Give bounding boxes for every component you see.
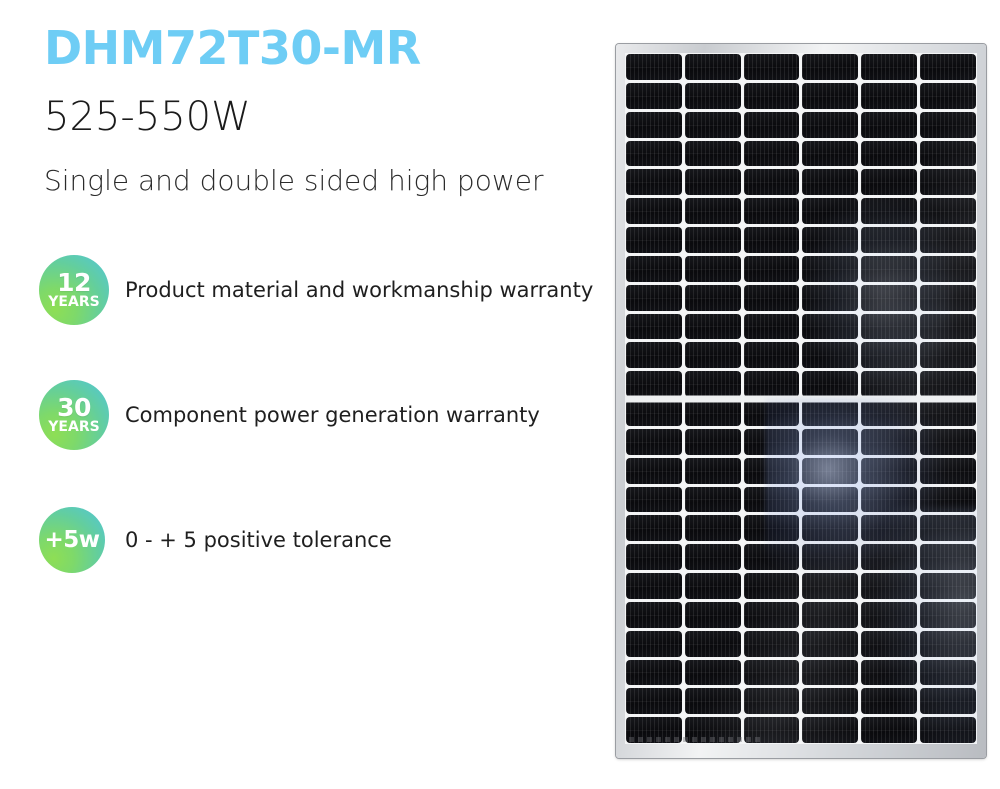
- solar-cell: [744, 487, 800, 513]
- solar-cell: [626, 112, 682, 138]
- solar-cell: [920, 141, 976, 167]
- solar-cell: [685, 314, 741, 340]
- panel-center-divider: [625, 395, 977, 402]
- solar-cell: [626, 54, 682, 80]
- solar-cell: [920, 256, 976, 282]
- solar-cell: [920, 342, 976, 368]
- solar-cell: [685, 400, 741, 426]
- solar-cell: [626, 660, 682, 686]
- positive-tolerance-badge-icon: +5w: [39, 507, 105, 573]
- solar-cell: [920, 285, 976, 311]
- solar-cell: [685, 458, 741, 484]
- badge-unit: YEARS: [48, 420, 99, 434]
- solar-cell: [685, 631, 741, 657]
- solar-cell: [920, 717, 976, 743]
- solar-panel-glass: [625, 53, 977, 744]
- solar-cell: [626, 256, 682, 282]
- badge-unit: YEARS: [48, 295, 99, 309]
- solar-cell: [802, 342, 858, 368]
- solar-cell: [744, 227, 800, 253]
- solar-cell: [685, 54, 741, 80]
- solar-cell: [861, 400, 917, 426]
- solar-cell: [626, 458, 682, 484]
- solar-cell: [744, 54, 800, 80]
- solar-cell: [920, 198, 976, 224]
- solar-cell: [861, 429, 917, 455]
- solar-cell: [744, 371, 800, 397]
- solar-cell: [802, 285, 858, 311]
- solar-cell: [626, 688, 682, 714]
- solar-cell: [744, 169, 800, 195]
- solar-cell: [920, 660, 976, 686]
- badge-number: 30: [57, 396, 91, 420]
- solar-cell: [626, 429, 682, 455]
- solar-cell: [744, 602, 800, 628]
- solar-cell: [744, 688, 800, 714]
- warranty-30-years-badge-icon: 30 YEARS: [39, 380, 109, 450]
- solar-cell: [920, 227, 976, 253]
- solar-cell: [685, 602, 741, 628]
- feature-item-positive-tolerance: +5w 0 - + 5 positive tolerance: [0, 498, 610, 582]
- feature-list: 12 YEARS Product material and workmanshi…: [0, 248, 610, 623]
- solar-cell: [744, 83, 800, 109]
- solar-cell: [626, 198, 682, 224]
- solar-cell: [744, 544, 800, 570]
- solar-cell: [861, 198, 917, 224]
- solar-cell: [744, 429, 800, 455]
- solar-cell: [920, 314, 976, 340]
- feature-item-product-warranty: 12 YEARS Product material and workmanshi…: [0, 248, 610, 332]
- solar-cell: [626, 631, 682, 657]
- solar-cell: [685, 429, 741, 455]
- solar-cell: [861, 285, 917, 311]
- solar-cell: [802, 112, 858, 138]
- product-banner: DHM72T30-MR 525-550W Single and double s…: [0, 0, 1000, 789]
- solar-cell: [626, 169, 682, 195]
- solar-cell: [626, 602, 682, 628]
- solar-cell: [744, 515, 800, 541]
- solar-cell: [744, 141, 800, 167]
- solar-cell: [920, 371, 976, 397]
- solar-cell: [626, 141, 682, 167]
- solar-cell: [861, 371, 917, 397]
- solar-cell: [802, 515, 858, 541]
- product-model-title: DHM72T30-MR: [44, 24, 421, 72]
- solar-cell: [744, 112, 800, 138]
- solar-cell: [861, 112, 917, 138]
- solar-cell: [626, 314, 682, 340]
- solar-cell: [920, 631, 976, 657]
- solar-cell: [802, 400, 858, 426]
- solar-cell: [861, 141, 917, 167]
- solar-cell: [802, 544, 858, 570]
- solar-cell: [744, 400, 800, 426]
- solar-cell: [861, 256, 917, 282]
- solar-cell: [802, 169, 858, 195]
- solar-cell: [802, 429, 858, 455]
- solar-cell: [802, 141, 858, 167]
- solar-cell: [802, 371, 858, 397]
- solar-cell: [802, 83, 858, 109]
- solar-cell: [861, 688, 917, 714]
- product-tagline: Single and double sided high power: [44, 164, 543, 198]
- solar-cell: [744, 631, 800, 657]
- solar-cell: [744, 458, 800, 484]
- solar-cell: [861, 169, 917, 195]
- solar-cell: [744, 256, 800, 282]
- solar-cell: [744, 198, 800, 224]
- solar-cell: [920, 602, 976, 628]
- solar-cell: [920, 400, 976, 426]
- solar-cell: [626, 285, 682, 311]
- solar-cell: [861, 515, 917, 541]
- solar-cell: [920, 487, 976, 513]
- solar-cell: [861, 342, 917, 368]
- solar-cell: [626, 515, 682, 541]
- solar-cell: [685, 227, 741, 253]
- solar-cell: [802, 198, 858, 224]
- solar-cell: [744, 573, 800, 599]
- solar-cell: [920, 573, 976, 599]
- product-power-range: 525-550W: [44, 96, 251, 138]
- solar-cell: [802, 717, 858, 743]
- solar-cell: [802, 573, 858, 599]
- solar-cell: [685, 256, 741, 282]
- solar-cell: [626, 400, 682, 426]
- solar-cell: [861, 602, 917, 628]
- solar-cell: [920, 429, 976, 455]
- solar-cell: [861, 717, 917, 743]
- solar-cell: [920, 54, 976, 80]
- solar-cell: [861, 227, 917, 253]
- solar-cell: [802, 227, 858, 253]
- solar-cell: [626, 487, 682, 513]
- solar-cell: [626, 342, 682, 368]
- solar-cell: [685, 688, 741, 714]
- solar-cell: [685, 169, 741, 195]
- solar-cell: [685, 112, 741, 138]
- solar-cell: [685, 544, 741, 570]
- solar-cell: [685, 285, 741, 311]
- solar-cell: [920, 112, 976, 138]
- solar-cell: [920, 83, 976, 109]
- solar-cell: [685, 371, 741, 397]
- solar-cell: [861, 660, 917, 686]
- solar-cell: [685, 342, 741, 368]
- solar-cell: [920, 458, 976, 484]
- product-info-panel: DHM72T30-MR 525-550W Single and double s…: [0, 0, 610, 789]
- solar-cell: [685, 141, 741, 167]
- feature-label: 0 - + 5 positive tolerance: [125, 528, 392, 552]
- solar-cell: [802, 487, 858, 513]
- solar-cell: [861, 314, 917, 340]
- solar-cell: [685, 198, 741, 224]
- feature-item-power-warranty: 30 YEARS Component power generation warr…: [0, 373, 610, 457]
- feature-label: Component power generation warranty: [125, 403, 540, 427]
- warranty-12-years-badge-icon: 12 YEARS: [39, 255, 109, 325]
- solar-panel-image: [616, 44, 986, 758]
- feature-label: Product material and workmanship warrant…: [125, 278, 593, 302]
- solar-cell: [744, 285, 800, 311]
- solar-cell: [920, 169, 976, 195]
- solar-cell: [861, 458, 917, 484]
- solar-cell: [685, 487, 741, 513]
- solar-cell: [626, 544, 682, 570]
- solar-cell: [802, 631, 858, 657]
- solar-cell: [920, 515, 976, 541]
- solar-cell: [744, 342, 800, 368]
- solar-cell: [626, 573, 682, 599]
- solar-cell: [626, 83, 682, 109]
- solar-cell: [861, 544, 917, 570]
- solar-cell: [685, 660, 741, 686]
- solar-cell: [802, 660, 858, 686]
- solar-cell: [685, 573, 741, 599]
- solar-cell: [744, 660, 800, 686]
- solar-cell: [626, 371, 682, 397]
- solar-cell: [802, 688, 858, 714]
- solar-cell: [685, 83, 741, 109]
- solar-cell: [802, 54, 858, 80]
- solar-cell: [861, 573, 917, 599]
- solar-cell: [626, 227, 682, 253]
- solar-panel-frame: [616, 44, 986, 758]
- solar-cell: [861, 83, 917, 109]
- solar-cell: [802, 602, 858, 628]
- solar-cell: [920, 688, 976, 714]
- solar-cell: [685, 515, 741, 541]
- solar-cell: [802, 458, 858, 484]
- solar-cell: [744, 314, 800, 340]
- solar-cell: [920, 544, 976, 570]
- badge-number: 12: [57, 271, 91, 295]
- panel-silkscreen-label: [629, 737, 761, 742]
- solar-cell: [861, 631, 917, 657]
- badge-value: +5w: [44, 529, 99, 552]
- solar-cell: [802, 256, 858, 282]
- solar-cell: [802, 314, 858, 340]
- solar-cell: [861, 487, 917, 513]
- solar-cell: [861, 54, 917, 80]
